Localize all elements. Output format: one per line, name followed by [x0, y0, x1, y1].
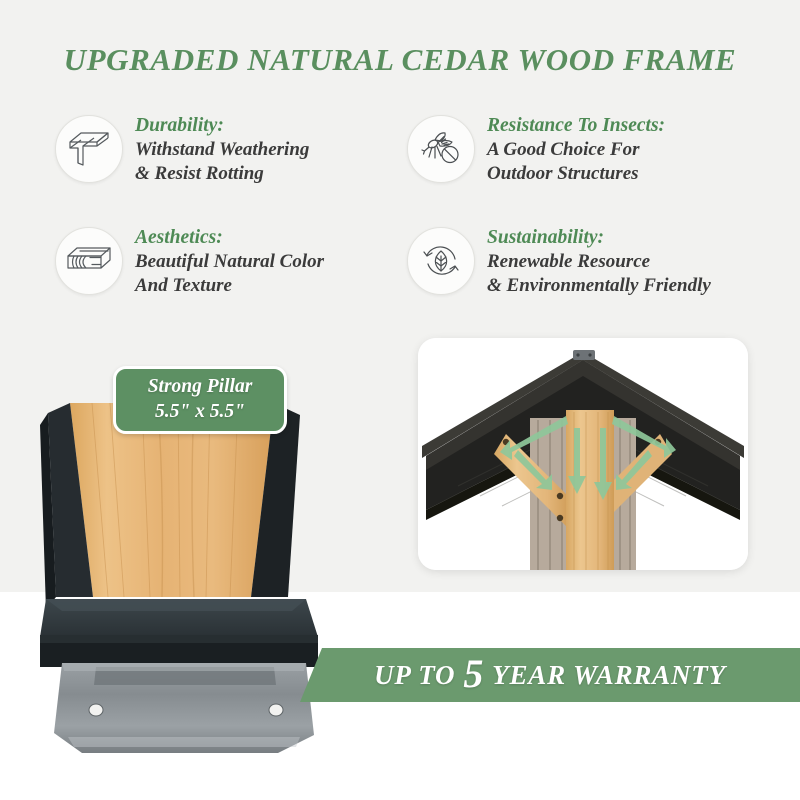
feature-line: Withstand Weathering: [135, 138, 309, 162]
feature-body: A Good Choice For Outdoor Structures: [487, 138, 665, 186]
feature-item-durability: Durability: Withstand Weathering & Resis…: [55, 113, 309, 186]
badge-line-2: 5.5" x 5.5": [155, 400, 245, 425]
feature-text: Resistance To Insects: A Good Choice For…: [487, 113, 665, 186]
feature-line: Outdoor Structures: [487, 162, 665, 186]
infographic-root: UPGRADED NATURAL CEDAR WOOD FRAME Durabi…: [0, 0, 800, 800]
feature-heading: Aesthetics:: [135, 226, 324, 249]
feature-list: Durability: Withstand Weathering & Resis…: [55, 113, 755, 313]
feature-item-insect-resistance: Resistance To Insects: A Good Choice For…: [407, 113, 665, 186]
recycle-leaf-icon: [407, 227, 475, 295]
feature-line: Renewable Resource: [487, 250, 711, 274]
warranty-prefix: UP TO: [371, 660, 458, 691]
feature-heading: Resistance To Insects:: [487, 114, 665, 137]
no-insects-icon: [407, 115, 475, 183]
wood-plank-icon: [55, 227, 123, 295]
feature-item-sustainability: Sustainability: Renewable Resource & Env…: [407, 225, 711, 298]
feature-heading: Durability:: [135, 114, 309, 137]
page-title: UPGRADED NATURAL CEDAR WOOD FRAME: [0, 42, 800, 78]
gazebo-roof-peak-photo: [418, 338, 748, 570]
feature-heading: Sustainability:: [487, 226, 711, 249]
feature-text: Sustainability: Renewable Resource & Env…: [487, 225, 711, 298]
feature-line: A Good Choice For: [487, 138, 665, 162]
feature-line: And Texture: [135, 274, 324, 298]
feature-body: Renewable Resource & Environmentally Fri…: [487, 250, 711, 298]
feature-line: & Environmentally Friendly: [487, 274, 711, 298]
feature-text: Durability: Withstand Weathering & Resis…: [135, 113, 309, 186]
feature-line: Beautiful Natural Color: [135, 250, 324, 274]
warranty-banner: UP TO 5 YEAR WARRANTY: [300, 648, 800, 702]
feature-item-aesthetics: Aesthetics: Beautiful Natural Color And …: [55, 225, 324, 298]
badge-line-1: Strong Pillar: [148, 375, 253, 400]
feature-text: Aesthetics: Beautiful Natural Color And …: [135, 225, 324, 298]
feature-body: Withstand Weathering & Resist Rotting: [135, 138, 309, 186]
cedar-post-base-photo: [38, 385, 358, 760]
angle-beam-icon: [55, 115, 123, 183]
feature-line: & Resist Rotting: [135, 162, 309, 186]
feature-body: Beautiful Natural Color And Texture: [135, 250, 324, 298]
warranty-banner-text: UP TO 5 YEAR WARRANTY: [371, 660, 729, 691]
strong-pillar-badge: Strong Pillar 5.5" x 5.5": [113, 366, 287, 434]
warranty-suffix: YEAR WARRANTY: [489, 660, 729, 691]
